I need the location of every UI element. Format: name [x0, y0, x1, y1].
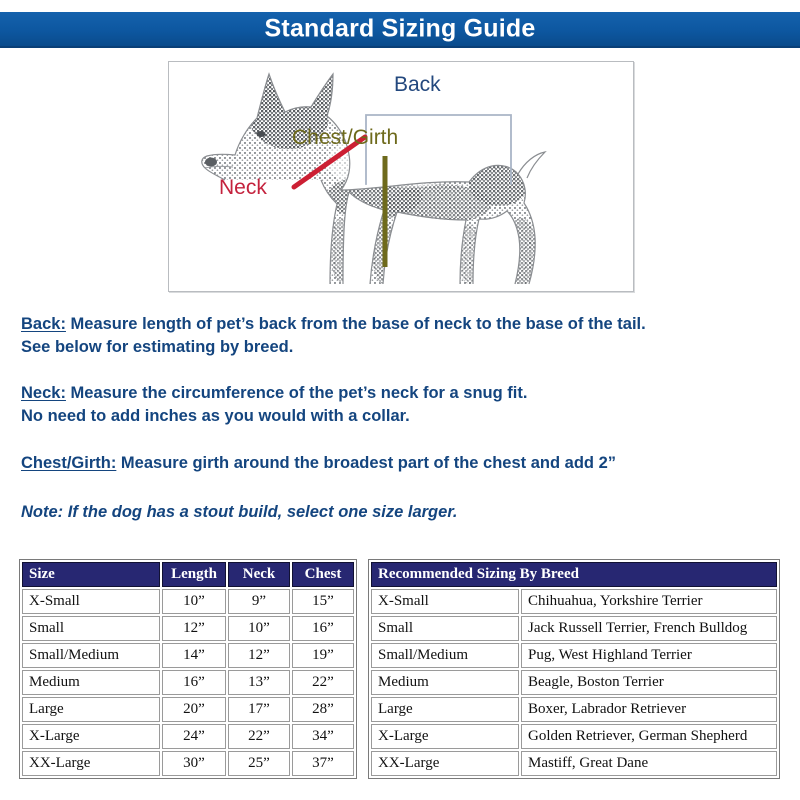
table-row: Small/Medium Pug, West Highland Terrier [371, 643, 777, 668]
cell-breeds: Pug, West Highland Terrier [521, 643, 777, 668]
cell-length: 12” [162, 616, 226, 641]
table-row: Small/Medium 14” 12” 19” [22, 643, 354, 668]
table-row: X-Large 24” 22” 34” [22, 724, 354, 749]
cell-chest: 28” [292, 697, 354, 722]
size-measurements-table: Size Length Neck Chest X-Small 10” 9” 15… [19, 559, 357, 779]
cell-chest: 16” [292, 616, 354, 641]
cell-length: 20” [162, 697, 226, 722]
instruction-chest-term: Chest/Girth: [21, 454, 116, 472]
table-row: XX-Large Mastiff, Great Dane [371, 751, 777, 776]
cell-length: 24” [162, 724, 226, 749]
table-row: X-Large Golden Retriever, German Shepher… [371, 724, 777, 749]
cell-size: Large [371, 697, 519, 722]
column-header-length: Length [162, 562, 226, 587]
cell-size: XX-Large [371, 751, 519, 776]
cell-neck: 13” [228, 670, 290, 695]
table-row: Small Jack Russell Terrier, French Bulld… [371, 616, 777, 641]
back-label: Back [394, 74, 441, 95]
page-header-banner: Standard Sizing Guide [0, 12, 800, 48]
cell-neck: 22” [228, 724, 290, 749]
cell-neck: 17” [228, 697, 290, 722]
table-row: Small 12” 10” 16” [22, 616, 354, 641]
cell-size: Large [22, 697, 160, 722]
measurement-diagram: Back Chest/Girth Neck [168, 61, 634, 292]
table-row: X-Small 10” 9” 15” [22, 589, 354, 614]
instruction-back: Back: Measure length of pet’s back from … [21, 313, 646, 359]
breed-recommendation-table: Recommended Sizing By Breed X-Small Chih… [368, 559, 780, 779]
cell-size: X-Small [371, 589, 519, 614]
cell-breeds: Jack Russell Terrier, French Bulldog [521, 616, 777, 641]
table-row: Large 20” 17” 28” [22, 697, 354, 722]
cell-size: Small [371, 616, 519, 641]
cell-size: Medium [371, 670, 519, 695]
table-row: Large Boxer, Labrador Retriever [371, 697, 777, 722]
cell-chest: 37” [292, 751, 354, 776]
table-row: Medium Beagle, Boston Terrier [371, 670, 777, 695]
cell-length: 30” [162, 751, 226, 776]
cell-size: X-Large [371, 724, 519, 749]
neck-label: Neck [219, 177, 267, 198]
cell-breeds: Boxer, Labrador Retriever [521, 697, 777, 722]
cell-size: X-Large [22, 724, 160, 749]
cell-breeds: Golden Retriever, German Shepherd [521, 724, 777, 749]
instruction-note: Note: If the dog has a stout build, sele… [21, 501, 457, 524]
table-header-row: Size Length Neck Chest [22, 562, 354, 587]
column-header-breed-title: Recommended Sizing By Breed [371, 562, 777, 587]
instruction-back-term: Back: [21, 315, 66, 333]
cell-breeds: Beagle, Boston Terrier [521, 670, 777, 695]
cell-size: Small [22, 616, 160, 641]
cell-size: X-Small [22, 589, 160, 614]
cell-neck: 9” [228, 589, 290, 614]
table-row: X-Small Chihuahua, Yorkshire Terrier [371, 589, 777, 614]
column-header-neck: Neck [228, 562, 290, 587]
cell-neck: 10” [228, 616, 290, 641]
cell-size: Medium [22, 670, 160, 695]
cell-chest: 22” [292, 670, 354, 695]
table-row: XX-Large 30” 25” 37” [22, 751, 354, 776]
table-row: Medium 16” 13” 22” [22, 670, 354, 695]
cell-size: Small/Medium [22, 643, 160, 668]
cell-neck: 12” [228, 643, 290, 668]
cell-chest: 34” [292, 724, 354, 749]
cell-chest: 19” [292, 643, 354, 668]
cell-breeds: Chihuahua, Yorkshire Terrier [521, 589, 777, 614]
table-header-row: Recommended Sizing By Breed [371, 562, 777, 587]
instruction-neck-text: Measure the circumference of the pet’s n… [21, 384, 527, 425]
instruction-back-text: Measure length of pet’s back from the ba… [21, 315, 646, 356]
page-title: Standard Sizing Guide [0, 17, 800, 42]
cell-chest: 15” [292, 589, 354, 614]
instruction-neck: Neck: Measure the circumference of the p… [21, 382, 527, 428]
instruction-chest: Chest/Girth: Measure girth around the br… [21, 452, 616, 475]
cell-size: Small/Medium [371, 643, 519, 668]
cell-neck: 25” [228, 751, 290, 776]
instruction-neck-term: Neck: [21, 384, 66, 402]
column-header-size: Size [22, 562, 160, 587]
cell-length: 16” [162, 670, 226, 695]
cell-length: 14” [162, 643, 226, 668]
column-header-chest: Chest [292, 562, 354, 587]
cell-size: XX-Large [22, 751, 160, 776]
cell-length: 10” [162, 589, 226, 614]
instruction-chest-text: Measure girth around the broadest part o… [116, 454, 616, 472]
cell-breeds: Mastiff, Great Dane [521, 751, 777, 776]
chest-girth-label: Chest/Girth [292, 127, 398, 148]
